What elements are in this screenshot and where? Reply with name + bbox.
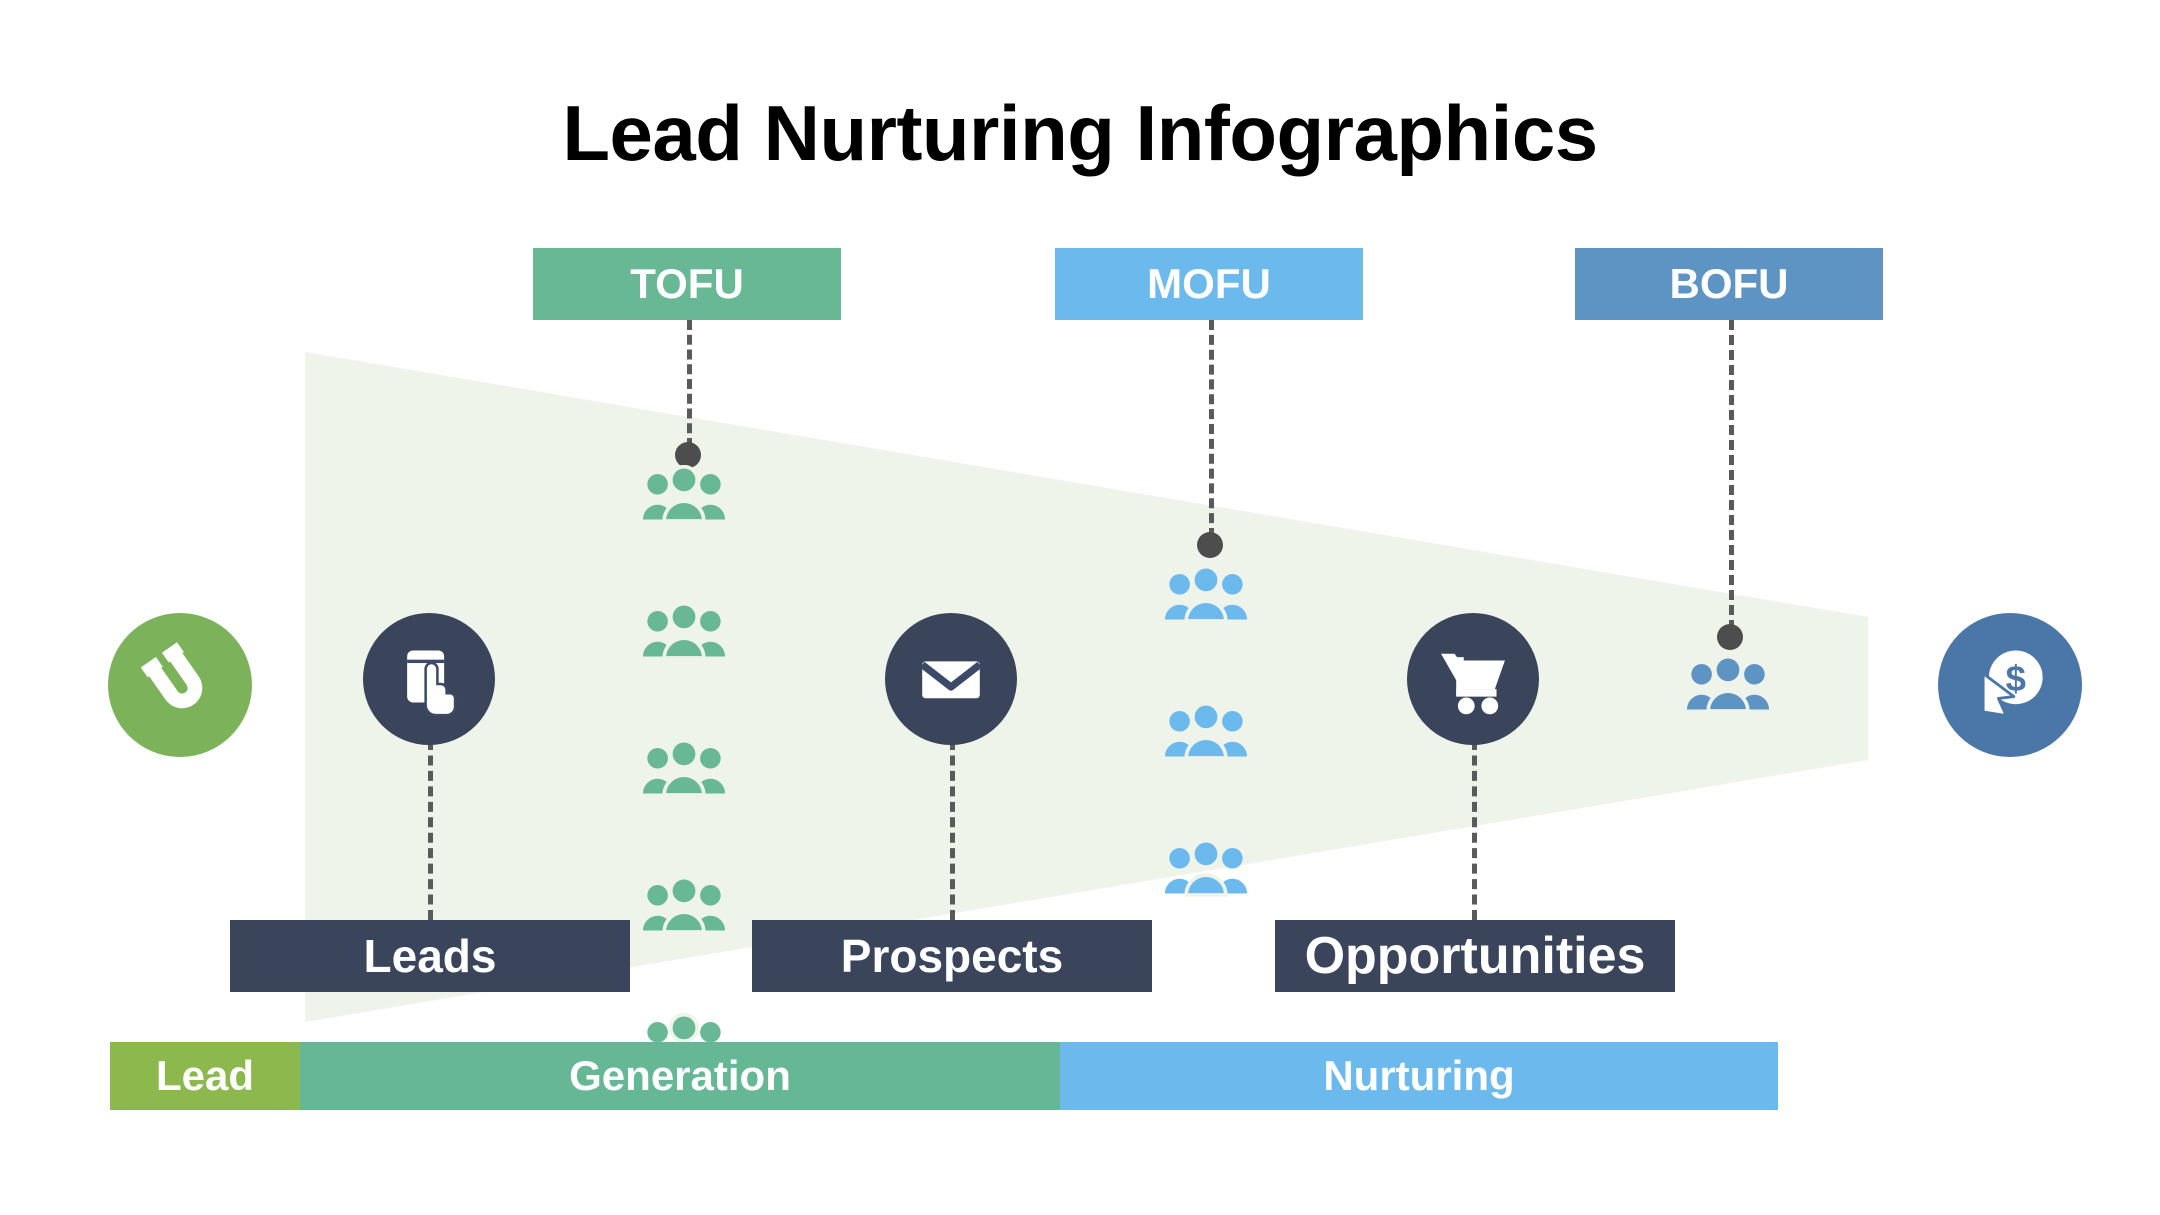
connector-tofu — [687, 320, 692, 448]
dollar-click-icon[interactable]: $ — [1938, 613, 2082, 757]
people-column-bofu — [1684, 655, 1772, 792]
envelope-icon[interactable] — [885, 613, 1017, 745]
banner-segment-nurturing[interactable]: Nurturing — [1060, 1042, 1778, 1110]
magnet-glyph — [134, 639, 226, 731]
people-group — [1684, 655, 1772, 722]
stage-badge-bofu[interactable]: BOFU — [1575, 248, 1883, 320]
people-group-icon — [1162, 839, 1250, 901]
people-group-icon — [640, 602, 728, 664]
smartphone-tap-glyph — [387, 637, 471, 721]
dollar-click-glyph: $ — [1962, 637, 2058, 733]
connector-leads — [428, 740, 433, 920]
stage-badge-mofu[interactable]: MOFU — [1055, 248, 1363, 320]
people-group-icon — [1162, 702, 1250, 764]
people-group-icon — [1684, 655, 1772, 717]
shopping-cart-icon[interactable] — [1407, 613, 1539, 745]
people-group-icon — [640, 465, 728, 527]
people-group — [1162, 565, 1250, 632]
page-title: Lead Nurturing Infographics — [0, 88, 2160, 179]
envelope-glyph — [911, 639, 991, 719]
banner-segment-generation[interactable]: Generation — [300, 1042, 1060, 1110]
people-group — [640, 602, 728, 669]
connector-dot-bofu — [1717, 624, 1743, 650]
connector-prospects — [950, 740, 955, 920]
connector-bofu — [1729, 320, 1734, 630]
infographic-canvas: Lead Nurturing Infographics TOFU MOFU BO… — [0, 0, 2160, 1215]
connector-opportunities — [1472, 740, 1477, 920]
people-column-mofu — [1162, 565, 1250, 976]
people-group-icon — [1162, 565, 1250, 627]
people-group — [640, 876, 728, 943]
stage-badge-tofu[interactable]: TOFU — [533, 248, 841, 320]
connector-mofu — [1209, 320, 1214, 538]
step-label-prospects[interactable]: Prospects — [752, 920, 1152, 992]
people-group — [1162, 702, 1250, 769]
people-group — [640, 465, 728, 532]
step-label-opportunities[interactable]: Opportunities — [1275, 920, 1675, 992]
people-group — [640, 739, 728, 806]
people-group-icon — [640, 876, 728, 938]
connector-dot-mofu — [1197, 532, 1223, 558]
people-group-icon — [640, 739, 728, 801]
funnel-shape — [0, 0, 2160, 1215]
step-label-leads[interactable]: Leads — [230, 920, 630, 992]
smartphone-tap-icon[interactable] — [363, 613, 495, 745]
shopping-cart-glyph — [1431, 637, 1515, 721]
banner-segment-lead[interactable]: Lead — [110, 1042, 300, 1110]
people-group — [1162, 839, 1250, 906]
magnet-icon[interactable] — [108, 613, 252, 757]
